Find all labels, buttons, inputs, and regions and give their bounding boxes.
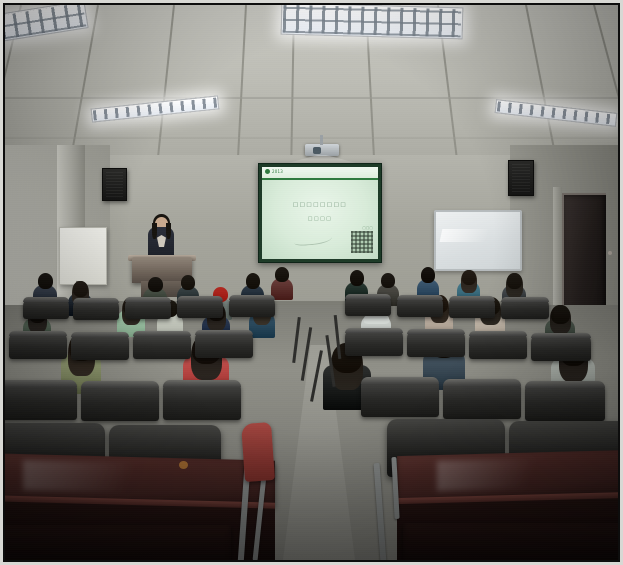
slide-underline-mark <box>294 233 333 247</box>
lecture-seat[interactable] <box>195 330 253 358</box>
door-frame <box>553 187 562 319</box>
lecture-seat[interactable] <box>345 294 391 316</box>
projection-screen: 2013 □□□□□□□□ □□□□ □□□ <box>258 163 382 263</box>
projector-mount <box>320 135 323 145</box>
lecture-seat[interactable] <box>163 380 241 420</box>
lecture-seat[interactable] <box>345 328 403 356</box>
lecture-seat[interactable] <box>229 295 275 317</box>
lecture-seat[interactable] <box>407 329 465 357</box>
attendee-head <box>181 275 195 290</box>
lecture-seat[interactable] <box>531 333 591 361</box>
lecture-seat[interactable] <box>525 381 605 421</box>
attendee-head <box>381 273 395 288</box>
whiteboard <box>434 210 522 271</box>
lecture-seat[interactable] <box>133 331 191 359</box>
attendee-head <box>73 281 88 297</box>
slide-title: □□□□□□□□ <box>262 201 378 210</box>
ceiling-projector <box>305 144 339 156</box>
lecture-seat[interactable] <box>9 331 67 359</box>
attendee-aisle <box>241 422 275 482</box>
attendee-head <box>275 267 289 282</box>
qr-code-icon <box>351 231 373 253</box>
slide-logo-text: 2013 <box>272 169 283 174</box>
slide-logo-mark-icon <box>265 169 270 174</box>
screenshot-root: 2013 □□□□□□□□ □□□□ □□□ <box>0 0 623 565</box>
attendee-head <box>551 305 570 324</box>
desk-bottom-left <box>5 525 231 560</box>
door-knob-icon[interactable] <box>608 251 612 255</box>
lecture-seat[interactable] <box>71 332 129 360</box>
attendee-head <box>148 277 163 292</box>
lecture-seat[interactable] <box>397 295 443 317</box>
flipchart-easel <box>59 227 107 285</box>
attendee-head <box>462 270 476 285</box>
attendee-head <box>38 273 53 289</box>
slide-subtitle: □□□□ <box>262 215 378 223</box>
lecture-seat[interactable] <box>501 297 549 319</box>
attendee-head <box>350 270 364 286</box>
attendee-head <box>421 267 435 283</box>
desk-object <box>179 461 188 469</box>
attendee-head <box>246 273 260 289</box>
lecture-seat[interactable] <box>469 331 527 359</box>
desk-bottom-right <box>403 523 618 560</box>
wall-speaker-right <box>508 160 534 196</box>
lecture-seat[interactable] <box>177 296 223 318</box>
lecture-seat[interactable] <box>23 297 69 319</box>
ceiling-light-top-center <box>281 5 464 39</box>
lecture-seat[interactable] <box>449 296 495 318</box>
lecture-seat[interactable] <box>5 380 77 420</box>
attendee-head <box>507 273 522 289</box>
lecture-seat[interactable] <box>73 298 119 320</box>
wall-speaker-left <box>102 168 127 201</box>
lecture-seat[interactable] <box>443 379 521 419</box>
presenter-hair-left <box>152 223 157 239</box>
attendee-7 <box>271 267 293 299</box>
lecture-seat[interactable] <box>81 381 159 421</box>
projector-lens-icon <box>313 147 321 154</box>
classroom-photo: 2013 □□□□□□□□ □□□□ □□□ <box>5 5 618 560</box>
presentation-slide: 2013 □□□□□□□□ □□□□ □□□ <box>262 167 378 259</box>
lecture-seat[interactable] <box>361 377 439 417</box>
slide-qr-caption: □□□ <box>362 226 373 230</box>
presenter-hair-right <box>166 223 171 239</box>
slide-logo: 2013 <box>265 169 283 174</box>
lecture-seat[interactable] <box>125 297 171 319</box>
classroom-door[interactable] <box>562 193 606 317</box>
